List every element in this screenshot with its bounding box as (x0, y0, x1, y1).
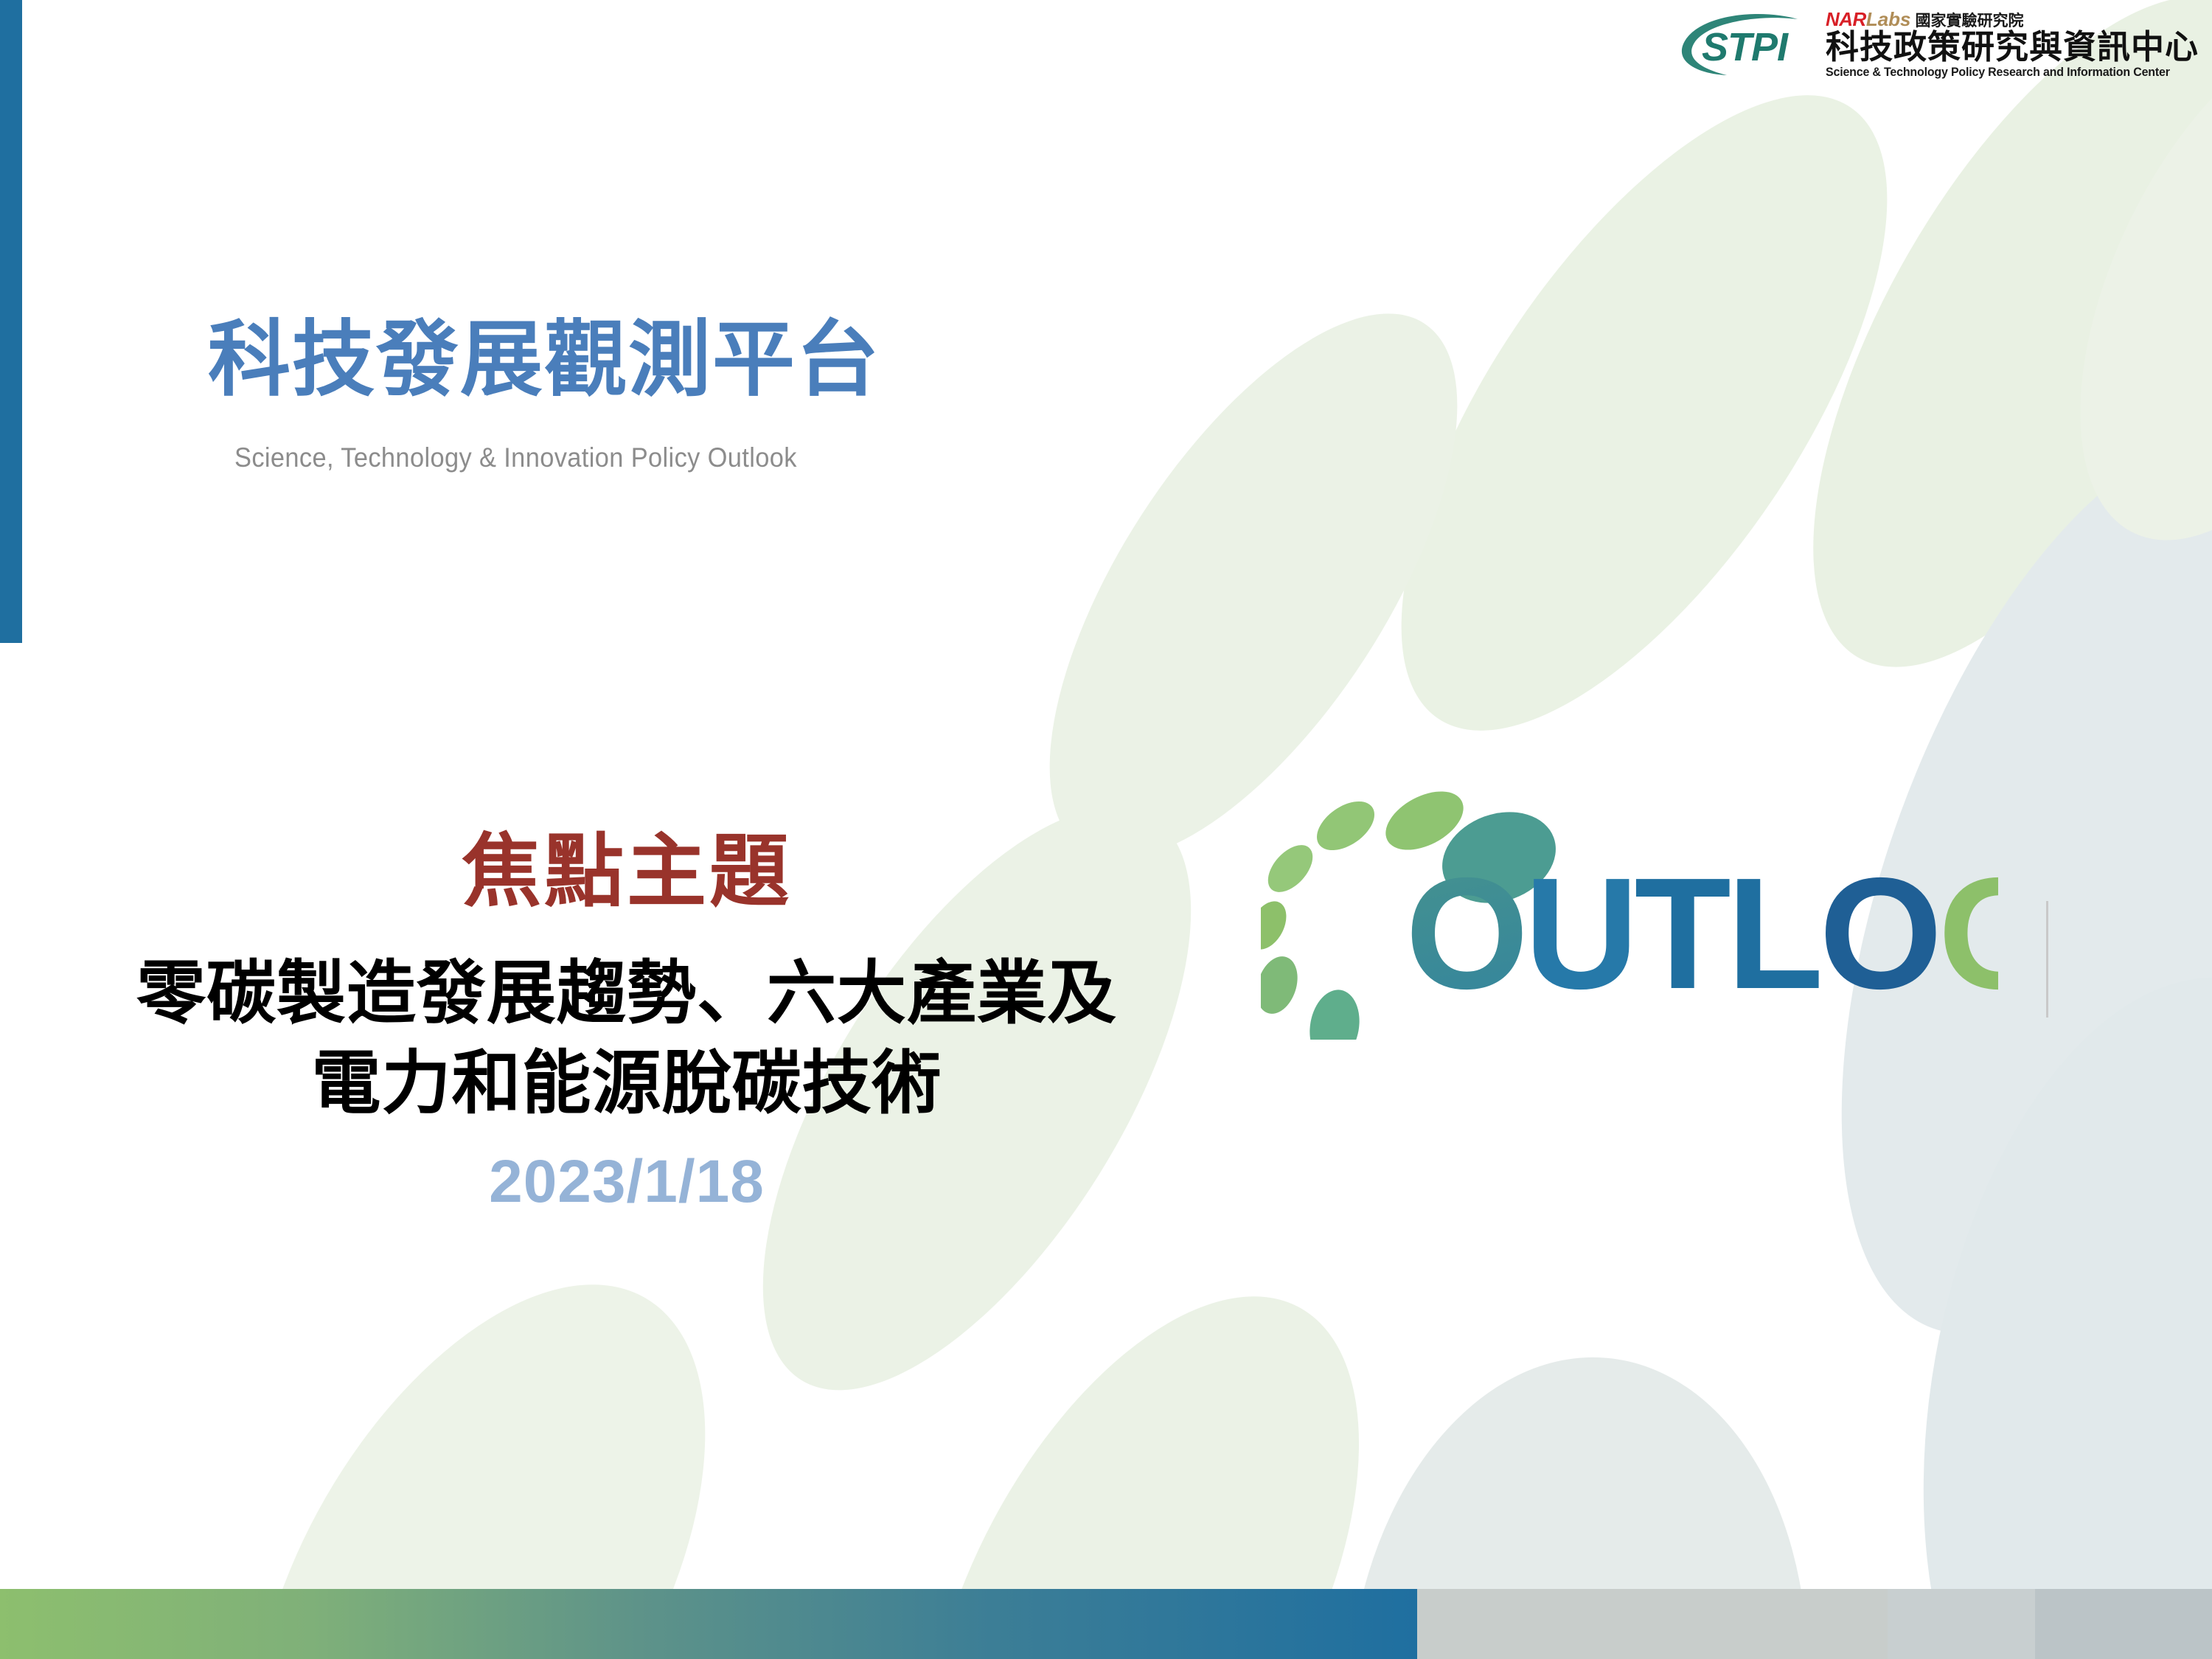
green-blob-top-right-b (1721, 0, 2212, 737)
bottom-gray-shade-b (2035, 1589, 2212, 1659)
left-accent-bar (0, 0, 22, 643)
narlabs-cjk-text: 國家實驗研究院 (1916, 13, 2024, 29)
narlabs-brand-row: NAR Labs 國家實驗研究院 (1826, 10, 2199, 29)
focus-topic-label: 焦點主題 (0, 832, 1253, 911)
topic-title-line-1: 零碳製造發展趨勢、六大產業及 (0, 959, 1253, 1028)
platform-title: 科技發展觀測平台 (208, 319, 880, 401)
green-blob-top-far-right (2008, 0, 2212, 594)
green-blob-top-right-a (1310, 21, 1978, 805)
outlook-logo-divider (2046, 901, 2048, 1018)
stpi-center-name-en: Science & Technology Policy Research and… (1826, 66, 2188, 80)
narlabs-text-block: NAR Labs 國家實驗研究院 科技政策研究與資訊中心 Science & T… (1826, 10, 2199, 80)
presentation-date: 2023/1/18 (0, 1152, 1253, 1212)
platform-subtitle: Science, Technology & Innovation Policy … (234, 442, 797, 473)
svg-text:OUTLOOK: OUTLOOK (1405, 844, 1998, 1022)
stpi-logo: STPI NAR Labs 國家實驗研究院 科技政策研究與資訊中心 Scienc… (1683, 4, 2199, 84)
topic-title-line-2: 電力和能源脫碳技術 (0, 1048, 1253, 1118)
bluegray-blob-bottom-right (1862, 940, 2212, 1659)
bottom-gradient-bar (0, 1589, 1417, 1659)
title-slide: STPI NAR Labs 國家實驗研究院 科技政策研究與資訊中心 Scienc… (0, 0, 2212, 1659)
svg-text:STPI: STPI (1702, 25, 1789, 69)
outlook-brand-logo: OUTLOOK (1261, 767, 1998, 1040)
stpi-mark-icon: STPI (1674, 10, 1821, 78)
outlook-wordmark: OUTLOOK (1405, 844, 1998, 1022)
bottom-gray-shade-a (1888, 1589, 2035, 1659)
stpi-center-name-cjk: 科技政策研究與資訊中心 (1826, 30, 2199, 63)
narlabs-nar-text: NAR (1826, 10, 1866, 29)
narlabs-labs-text: Labs (1866, 10, 1911, 29)
